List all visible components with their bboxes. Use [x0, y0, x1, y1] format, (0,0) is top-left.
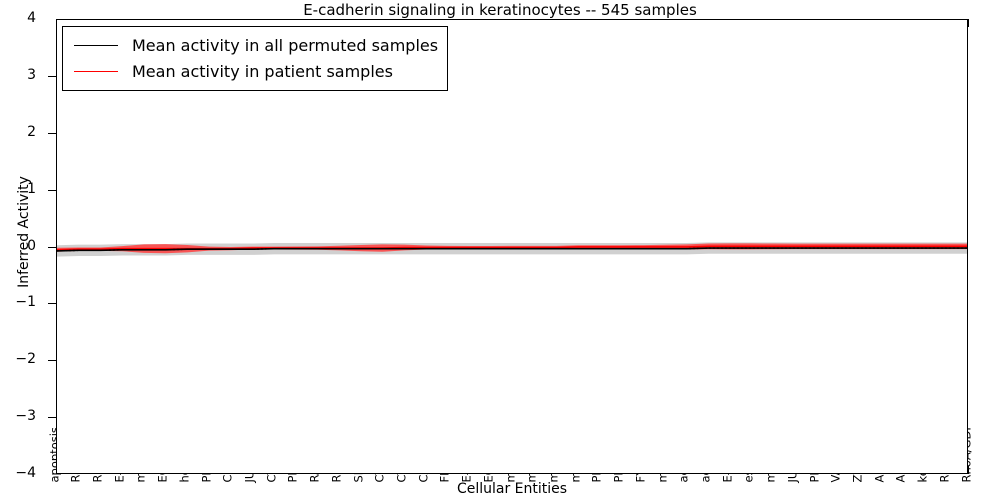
legend-line-red-icon: [74, 71, 118, 72]
y-tick-label: 3: [0, 67, 36, 83]
legend: Mean activity in all permuted samples Me…: [62, 26, 448, 91]
legend-label-permuted: Mean activity in all permuted samples: [132, 36, 438, 55]
figure-canvas: E-cadherin signaling in keratinocytes --…: [0, 0, 1000, 500]
legend-item-patient: Mean activity in patient samples: [72, 58, 438, 84]
y-tick-label: 0: [0, 238, 36, 254]
x-axis-label: Cellular Entities: [56, 481, 968, 497]
y-tick-label: −1: [0, 294, 36, 310]
y-tick-label: 1: [0, 181, 36, 197]
y-tick-mark: [48, 133, 56, 134]
y-tick-mark: [48, 417, 56, 418]
y-tick-label: −2: [0, 351, 36, 367]
legend-label-patient: Mean activity in patient samples: [132, 62, 393, 81]
y-tick-mark: [48, 360, 56, 361]
y-tick-label: 2: [0, 124, 36, 140]
y-axis-label: Inferred Activity: [16, 102, 32, 362]
y-tick-label: −3: [0, 408, 36, 424]
y-tick-label: −4: [0, 465, 36, 481]
y-tick-mark: [48, 303, 56, 304]
y-tick-mark: [48, 76, 56, 77]
x-tick-mark: [968, 19, 969, 27]
y-tick-mark: [48, 190, 56, 191]
legend-line-black-icon: [74, 45, 118, 46]
legend-item-permuted: Mean activity in all permuted samples: [72, 32, 438, 58]
y-tick-mark: [48, 247, 56, 248]
y-tick-label: 4: [0, 10, 36, 26]
page-title: E-cadherin signaling in keratinocytes --…: [0, 0, 1000, 20]
